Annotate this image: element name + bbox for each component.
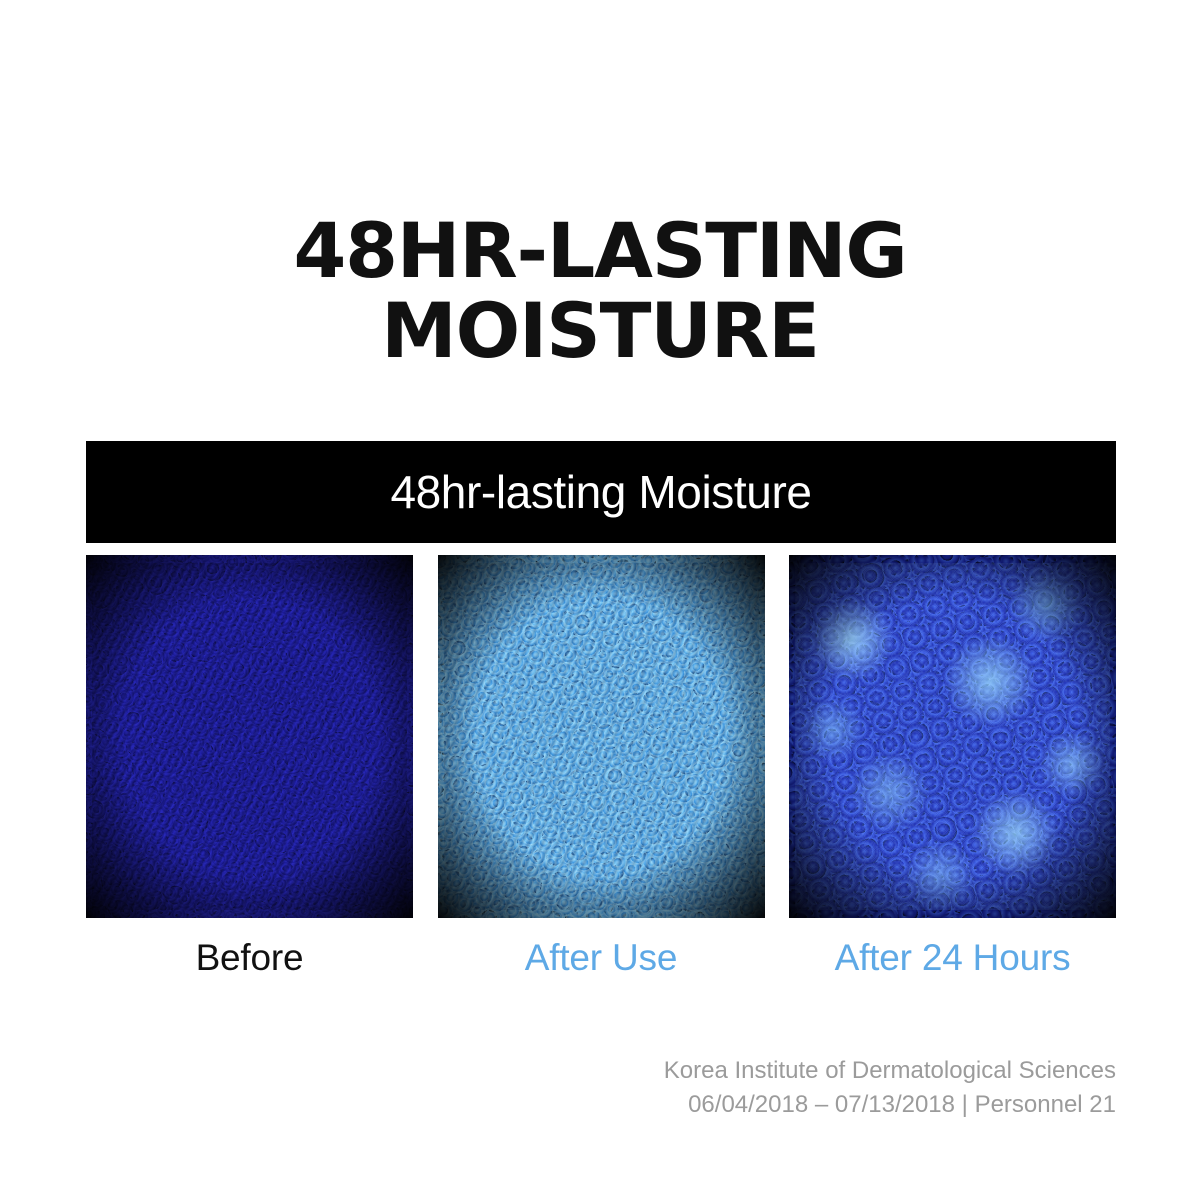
- panel-after-24-hours: [789, 555, 1116, 918]
- vignette-overlay: [86, 555, 413, 918]
- comparison-panel-row: [86, 555, 1116, 918]
- fluorescence-after-use-image: [444, 563, 759, 910]
- page-title-line-2: MOISTURE: [0, 291, 1200, 371]
- caption-after-24-hours: After 24 Hours: [789, 936, 1116, 980]
- panel-before: [86, 555, 413, 918]
- caption-row: Before After Use After 24 Hours: [86, 936, 1116, 980]
- section-banner: 48hr-lasting Moisture: [86, 441, 1116, 543]
- vignette-overlay: [438, 555, 765, 918]
- study-credit: Korea Institute of Dermatological Scienc…: [664, 1054, 1116, 1122]
- vignette-overlay: [789, 555, 1116, 918]
- fluorescence-before-image: [92, 563, 407, 910]
- promo-graphic: 48HR-LASTING MOISTURE 48hr-lasting Moist…: [0, 0, 1200, 1200]
- page-title: 48HR-LASTING MOISTURE: [0, 211, 1200, 371]
- study-institute: Korea Institute of Dermatological Scienc…: [664, 1054, 1116, 1088]
- page-title-line-1: 48HR-LASTING: [0, 211, 1200, 291]
- study-details: 06/04/2018 – 07/13/2018 | Personnel 21: [664, 1088, 1116, 1122]
- panel-after-use: [438, 555, 765, 918]
- caption-before: Before: [86, 936, 413, 980]
- fluorescence-after-24-hours-image: [795, 563, 1110, 910]
- caption-after-use: After Use: [438, 936, 765, 980]
- section-banner-title: 48hr-lasting Moisture: [390, 465, 811, 519]
